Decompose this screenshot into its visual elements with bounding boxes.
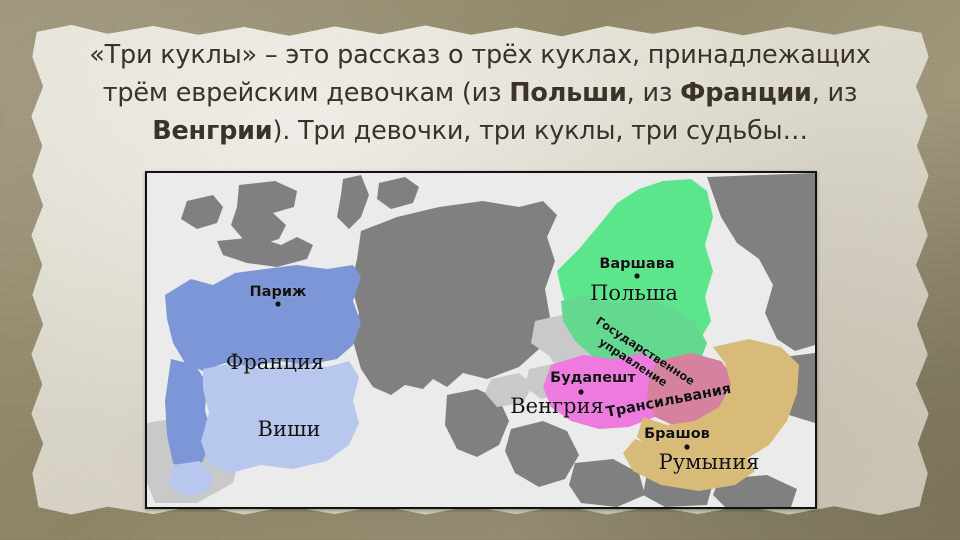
map-label-budapest: Будапешт (550, 370, 636, 386)
caption-line-1-text: «Три куклы» – это рассказ о трёх куклах,… (89, 40, 871, 70)
caption-bold-france: Франции (680, 78, 812, 108)
map-citydot-warsaw (634, 273, 639, 278)
map-label-france: Франция (226, 350, 324, 374)
caption-line-2: трём еврейским девочкам (из Польши, из Ф… (60, 74, 900, 112)
slide-caption: «Три куклы» – это рассказ о трёх куклах,… (60, 36, 900, 150)
caption-line-2-mid: , из (627, 78, 680, 108)
map-label-paris: Париж (250, 284, 307, 300)
caption-line-2-suffix: , из (812, 78, 858, 108)
map-label-romania: Румыния (659, 450, 760, 474)
map-label-hungary: Венгрия (510, 394, 604, 418)
map-citydot-paris (275, 301, 280, 306)
caption-bold-poland: Польши (509, 78, 626, 108)
map-citydot-brasov (684, 444, 689, 449)
europe-map-svg: Париж Франция Виши Варшава Польша Госуда… (147, 173, 815, 507)
caption-line-3-suffix: ). Три девочки, три куклы, три судьбы… (272, 116, 807, 146)
map-label-vichy: Виши (258, 417, 321, 441)
caption-line-3: Венгрии). Три девочки, три куклы, три су… (60, 112, 900, 150)
caption-line-1: «Три куклы» – это рассказ о трёх куклах,… (60, 36, 900, 74)
caption-bold-hungary: Венгрии (152, 116, 272, 146)
caption-line-2-prefix: трём еврейским девочкам (из (103, 78, 510, 108)
europe-map-image: Париж Франция Виши Варшава Польша Госуда… (145, 171, 817, 509)
map-label-brasov: Брашов (644, 426, 710, 442)
map-label-poland: Польша (590, 281, 678, 305)
map-label-warsaw: Варшава (599, 256, 674, 272)
slide-canvas: «Три куклы» – это рассказ о трёх куклах,… (0, 0, 960, 540)
